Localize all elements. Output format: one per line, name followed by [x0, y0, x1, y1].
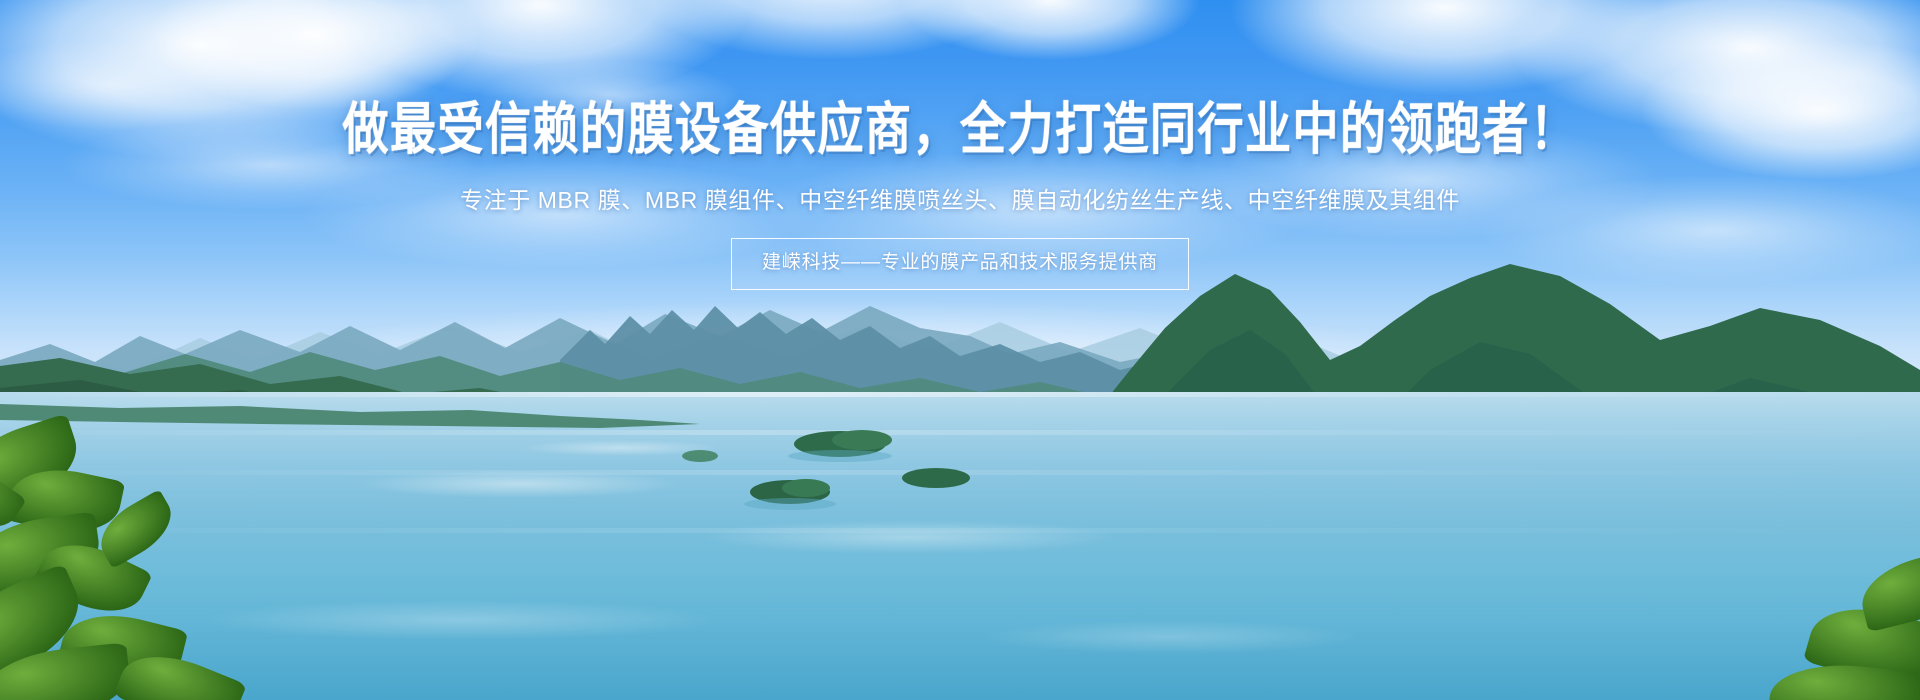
cloud-wisp-7 [480, 60, 740, 130]
hero-banner: 做最受信赖的膜设备供应商，全力打造同行业中的领跑者！ 专注于 MBR 膜、MBR… [0, 0, 1920, 700]
water-glint-3 [200, 600, 720, 640]
water-horizon-line [0, 392, 1920, 397]
water-glint-4 [980, 620, 1360, 654]
shoreline-far-left [0, 398, 1920, 438]
island-group [0, 420, 1920, 540]
